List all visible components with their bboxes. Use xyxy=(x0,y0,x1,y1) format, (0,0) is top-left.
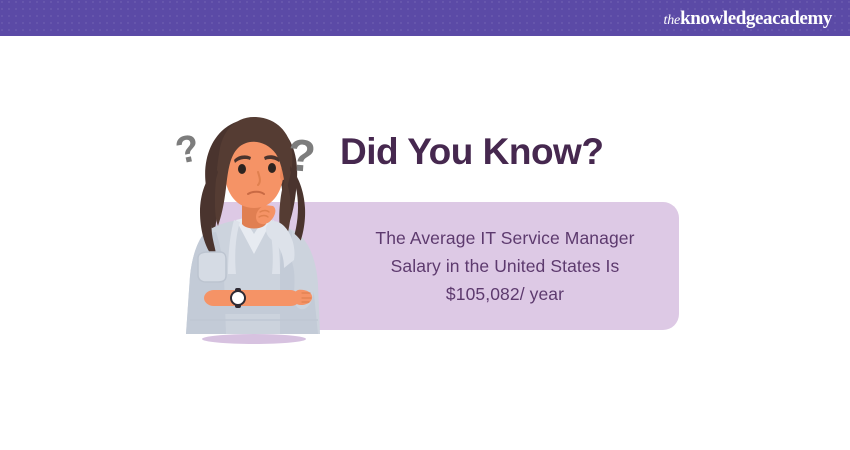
info-box-text: The Average IT Service Manager Salary in… xyxy=(350,224,660,308)
slide-canvas: theknowledgeacademy xyxy=(0,0,850,450)
brand-logo-name: knowledgeacademy xyxy=(680,9,832,28)
header-bar: theknowledgeacademy xyxy=(0,0,850,36)
question-mark-right-icon: ? xyxy=(286,132,317,179)
brand-logo-the: the xyxy=(664,14,681,28)
brand-logo: theknowledgeacademy xyxy=(664,9,832,28)
page-title: Did You Know? xyxy=(340,132,603,173)
